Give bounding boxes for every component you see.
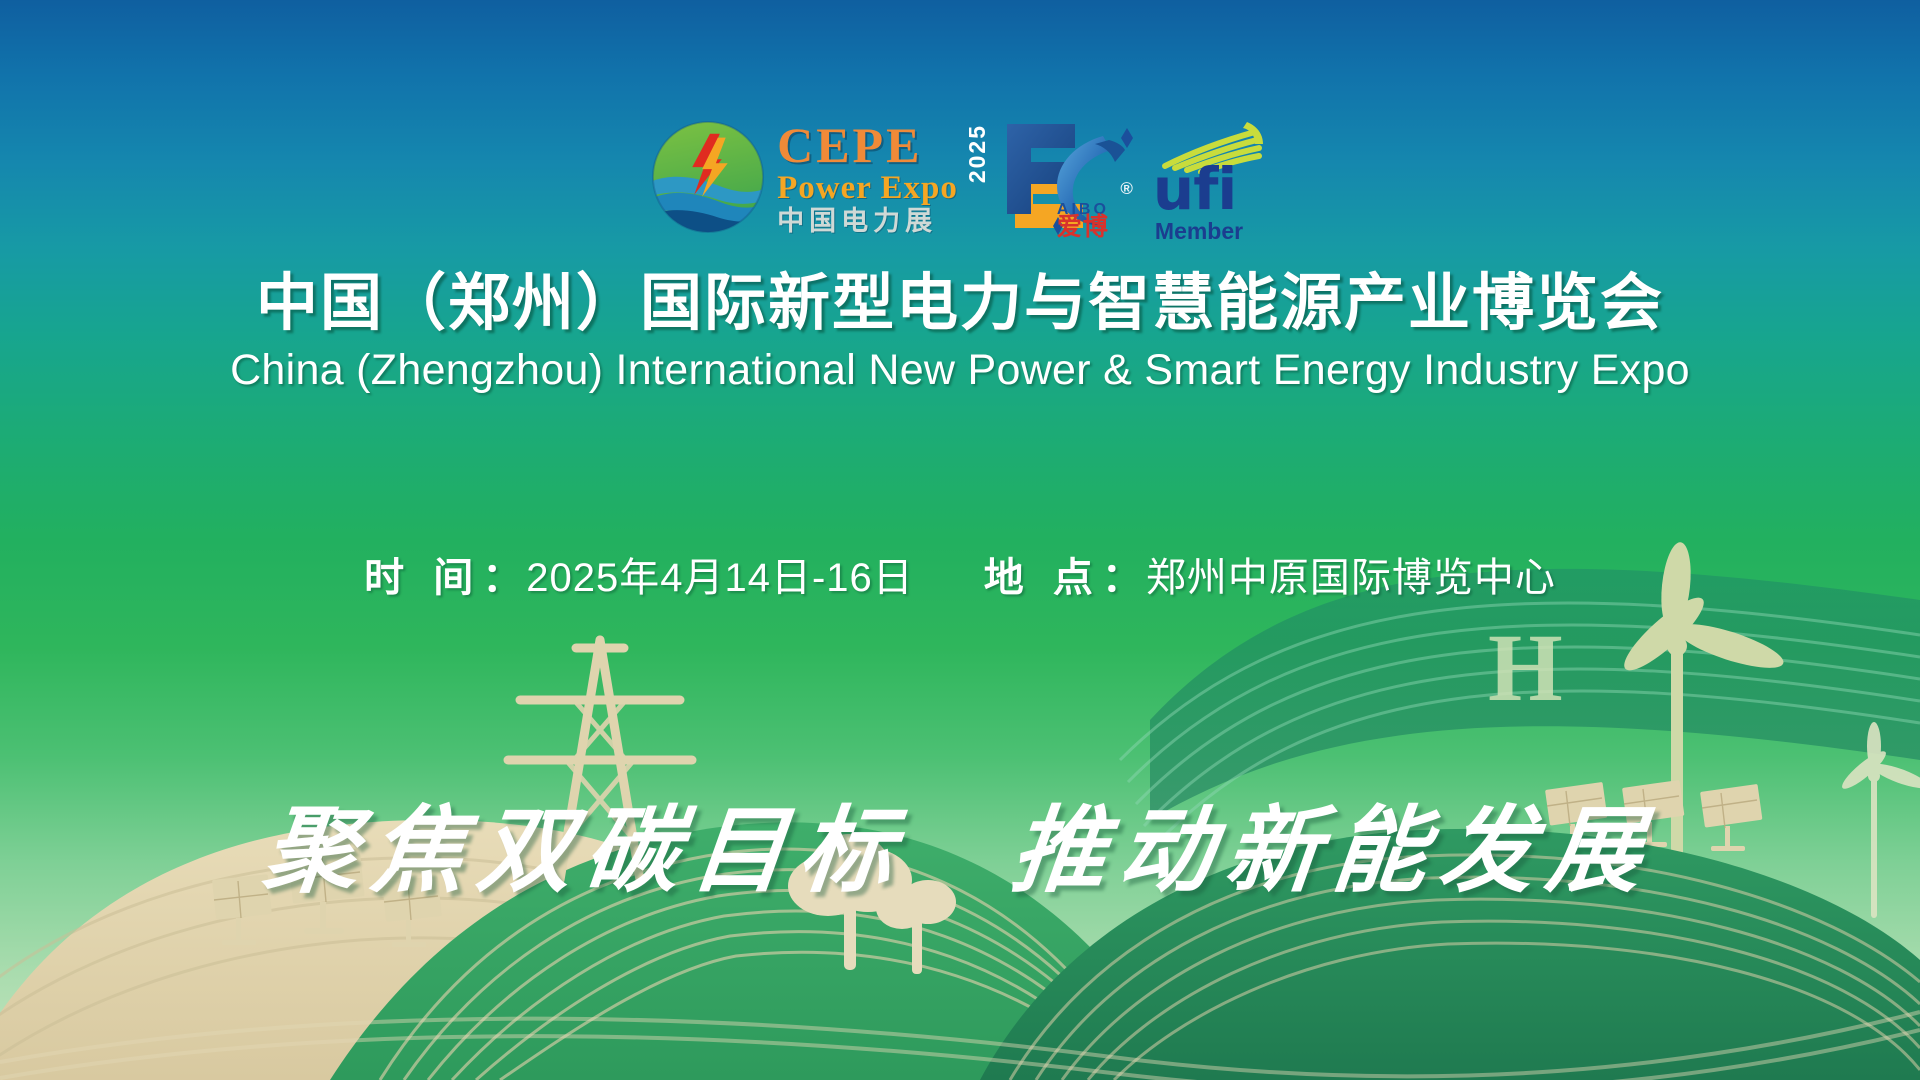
- cepe-year-text: 2025: [964, 124, 991, 183]
- cepe-main-text: CEPE: [777, 120, 958, 170]
- slogan-part-1: 聚焦双碳目标: [258, 775, 914, 911]
- aibo-chinese-text: 爱博: [1057, 207, 1109, 243]
- slogan-row: 聚焦双碳目标 推动新能发展: [0, 775, 1920, 911]
- event-venue: 地 点 ： 郑州中原国际博览中心: [984, 545, 1556, 603]
- ufi-word-text: ufi: [1153, 160, 1236, 218]
- event-venue-colon: ：: [1102, 545, 1142, 603]
- globe-lightning-wave-icon: [649, 118, 767, 236]
- page-title-chinese: 中国（郑州）国际新型电力与智慧能源产业博览会: [0, 270, 1920, 338]
- svg-text:H: H: [1488, 614, 1565, 721]
- cepe-sub-text: Power Expo: [777, 172, 958, 205]
- event-date-label: 时 间: [364, 545, 482, 603]
- hydrogen-symbol: H: [1488, 614, 1565, 721]
- logo-row: CEPE Power Expo 中国电力展 2025: [0, 118, 1920, 248]
- aibo-logo: ® AIBO 爱博: [997, 118, 1147, 243]
- expo-banner: H: [0, 0, 1920, 1080]
- ufi-member-logo: ufi Member: [1151, 118, 1271, 243]
- event-date-value: 2025年4月14日-16日: [526, 545, 914, 603]
- cepe-logo: CEPE Power Expo 中国电力展 2025: [649, 118, 991, 236]
- event-date-colon: ：: [482, 545, 522, 603]
- registered-trademark-icon: ®: [1120, 179, 1133, 199]
- event-venue-label: 地 点: [984, 545, 1102, 603]
- ufi-member-text: Member: [1155, 218, 1243, 245]
- headline: 中国（郑州）国际新型电力与智慧能源产业博览会 China (Zhengzhou)…: [0, 270, 1920, 395]
- page-title-english: China (Zhengzhou) International New Powe…: [0, 346, 1920, 395]
- cepe-chinese-text: 中国电力展: [777, 208, 958, 235]
- slogan-part-2: 推动新能发展: [1005, 775, 1661, 911]
- event-venue-value: 郑州中原国际博览中心: [1146, 545, 1556, 603]
- event-info-row: 时 间 ： 2025年4月14日-16日 地 点 ： 郑州中原国际博览中心: [0, 545, 1920, 603]
- event-date: 时 间 ： 2025年4月14日-16日: [364, 545, 914, 603]
